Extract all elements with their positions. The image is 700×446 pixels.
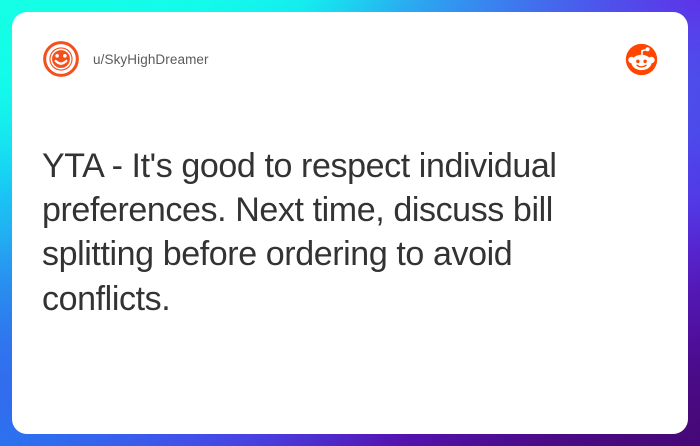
reddit-snoo-icon[interactable] xyxy=(625,43,658,76)
post-text: YTA - It's good to respect individual pr… xyxy=(42,144,642,321)
username-label: u/SkyHighDreamer xyxy=(93,52,209,67)
reddit-comment-card: u/SkyHighDreamer xyxy=(12,12,688,434)
smiley-face-avatar-icon[interactable] xyxy=(42,40,80,78)
screenshot-stage: u/SkyHighDreamer xyxy=(0,0,700,446)
card-header: u/SkyHighDreamer xyxy=(42,38,658,80)
